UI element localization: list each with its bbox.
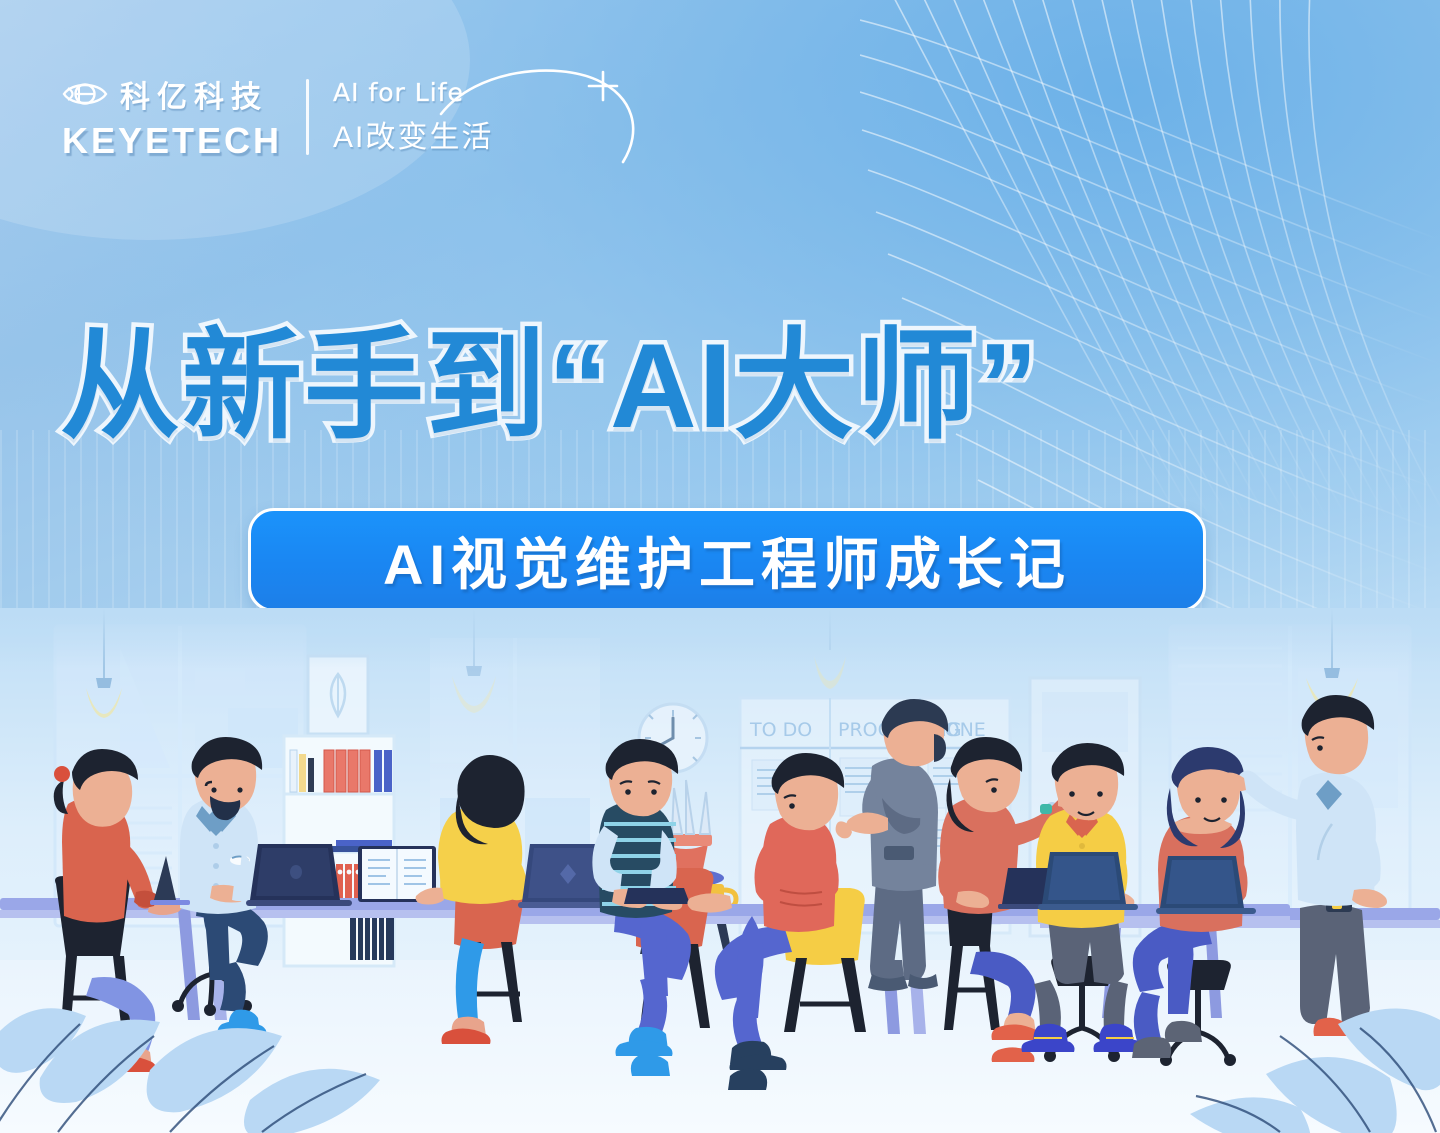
- eye-icon: [62, 79, 108, 109]
- laptop-striped-man: [624, 888, 690, 904]
- kanban-col-todo: TO DO: [749, 719, 812, 741]
- brand-name-cn: 科亿科技: [120, 72, 268, 116]
- subtitle-text: AI视觉维护工程师成长记: [383, 520, 1071, 601]
- subtitle-banner: AI视觉维护工程师成长记: [248, 508, 1206, 612]
- binders-navy: [350, 916, 394, 960]
- brand-slogan-block: AI for Life AI改变生活: [333, 78, 493, 156]
- brand-name-en: KEYETECH: [62, 120, 282, 162]
- arc-sparkle-icon: [417, 62, 657, 172]
- subtitle-banner-body: AI视觉维护工程师成长记: [248, 508, 1206, 612]
- logo-divider: [306, 79, 309, 155]
- binders-top: [290, 750, 392, 792]
- brand-name-block: 科亿科技 KEYETECH: [62, 72, 282, 162]
- brand-logo: 科亿科技 KEYETECH AI for Life AI改变生活: [62, 72, 493, 162]
- scene-top-fade: [0, 608, 1440, 668]
- page-title: 从新手到“AI大师”: [60, 322, 1390, 452]
- office-illustration: TO DO PROCESSING DONE: [0, 608, 1440, 1133]
- poster-canvas: 科亿科技 KEYETECH AI for Life AI改变生活 从新手到“AI…: [0, 0, 1440, 1133]
